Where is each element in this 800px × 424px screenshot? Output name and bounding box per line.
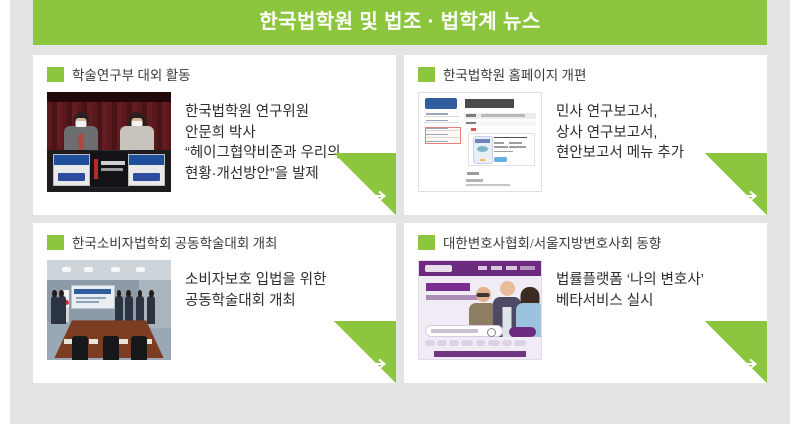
card-text-line: 베타서비스 실시 [556, 291, 704, 312]
card-text-line: 민사 연구보고서, [556, 102, 684, 123]
card-body: 법률플랫폼 ‘나의 변호사’ 베타서비스 실시 [418, 260, 757, 360]
card-title: 한국법학원 홈페이지 개편 [443, 64, 586, 84]
news-card-bar-association-trends[interactable]: 대한변호사협회/서울지방변호사회 동향 [404, 223, 767, 383]
card-text-line: 상사 연구보고서, [556, 123, 684, 144]
card-text-line: 안문희 박사 [185, 123, 341, 144]
news-widget: 한국법학원 및 법조 · 법학계 뉴스 학술연구부 대외 활동 [0, 0, 800, 424]
arrow-right-icon[interactable] [364, 358, 390, 370]
page-title: 한국법학원 및 법조 · 법학계 뉴스 [259, 0, 540, 45]
arrow-right-icon[interactable] [735, 190, 761, 202]
card-title-row: 한국소비자법학회 공동학술대회 개최 [47, 232, 277, 252]
card-title: 학술연구부 대외 활동 [72, 64, 191, 84]
card-text-line: 소비자보호 입법을 위한 [185, 270, 326, 291]
card-text-line: “헤이그협약비준과 우리의 [185, 143, 341, 164]
card-body: 민사 연구보고서, 상사 연구보고서, 현안보고서 메뉴 추가 [418, 92, 757, 192]
card-title: 대한변호사협회/서울지방변호사회 동향 [443, 232, 661, 252]
card-text-line: 한국법학원 연구위원 [185, 102, 341, 123]
card-text: 민사 연구보고서, 상사 연구보고서, 현안보고서 메뉴 추가 [556, 92, 684, 164]
card-title: 한국소비자법학회 공동학술대회 개최 [72, 232, 277, 252]
card-title-row: 한국법학원 홈페이지 개편 [418, 64, 586, 84]
news-card-grid: 학술연구부 대외 활동 [33, 55, 767, 383]
card-body: 소비자보호 입법을 위한 공동학술대회 개최 [47, 260, 386, 360]
card-thumbnail-image [418, 92, 542, 192]
card-text-line: 현황·개선방안”을 발제 [185, 164, 341, 185]
card-text-line: 법률플랫폼 ‘나의 변호사’ [556, 270, 704, 291]
card-text-line: 현안보고서 메뉴 추가 [556, 143, 684, 164]
arrow-right-icon[interactable] [735, 358, 761, 370]
arrow-right-icon[interactable] [364, 190, 390, 202]
card-text: 법률플랫폼 ‘나의 변호사’ 베타서비스 실시 [556, 260, 704, 311]
news-card-consumer-law-conference[interactable]: 한국소비자법학회 공동학술대회 개최 [33, 223, 396, 383]
card-thumbnail-image [47, 260, 171, 360]
card-title-row: 대한변호사협회/서울지방변호사회 동향 [418, 232, 661, 252]
card-body: 한국법학원 연구위원 안문희 박사 “헤이그협약비준과 우리의 현황·개선방안”… [47, 92, 386, 192]
green-square-bullet-icon [47, 235, 64, 250]
widget-header: 한국법학원 및 법조 · 법학계 뉴스 [33, 0, 767, 45]
card-text: 한국법학원 연구위원 안문희 박사 “헤이그협약비준과 우리의 현황·개선방안”… [185, 92, 341, 184]
news-card-academic-research-activities[interactable]: 학술연구부 대외 활동 [33, 55, 396, 215]
panelist-female [120, 112, 154, 152]
card-text: 소비자보호 입법을 위한 공동학술대회 개최 [185, 260, 326, 311]
news-card-homepage-renewal[interactable]: 한국법학원 홈페이지 개편 [404, 55, 767, 215]
green-square-bullet-icon [418, 235, 435, 250]
green-square-bullet-icon [47, 67, 64, 82]
card-thumbnail-image [418, 260, 542, 360]
card-title-row: 학술연구부 대외 활동 [47, 64, 191, 84]
green-square-bullet-icon [418, 67, 435, 82]
card-thumbnail-image [47, 92, 171, 192]
highlight-box [425, 127, 461, 144]
panelist-male [64, 112, 98, 152]
card-text-line: 공동학술대회 개최 [185, 291, 326, 312]
